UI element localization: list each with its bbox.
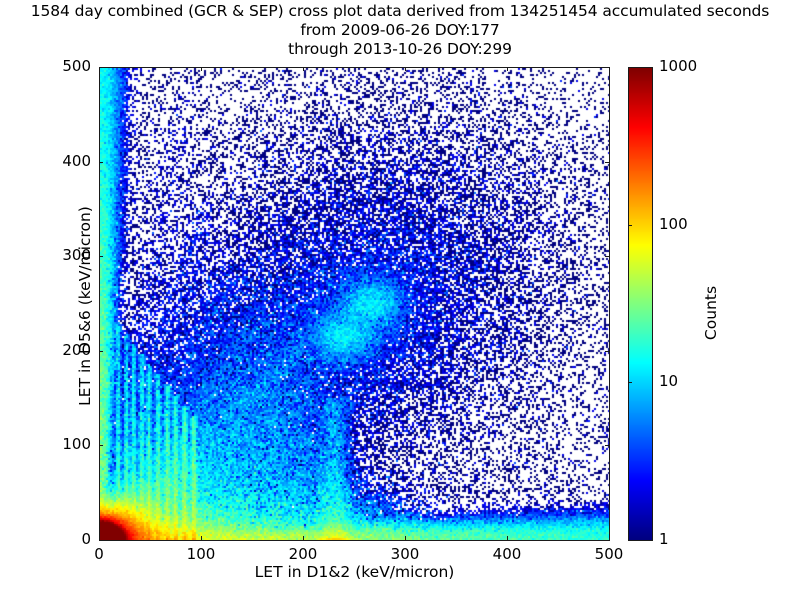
y-tick-mark [99,67,103,68]
y-tick-mark-right [605,540,609,541]
x-tick-mark [609,536,610,540]
x-tick-label: 100 [166,545,236,563]
y-tick-mark-right [605,256,609,257]
colorbar-label: Counts [702,223,720,403]
y-tick-mark [99,256,103,257]
colorbar-tick-label: 100 [659,215,688,233]
colorbar-tick-mark [628,382,632,383]
colorbar-tick-label: 1 [659,530,669,548]
plot-title: 1584 day combined (GCR & SEP) cross plot… [0,2,800,59]
colorbar[interactable] [628,67,653,541]
colorbar-tick-label: 10 [659,372,678,390]
x-tick-label: 500 [574,545,644,563]
y-tick-mark [99,351,103,352]
x-tick-mark [405,536,406,540]
x-tick-label: 200 [268,545,338,563]
y-tick-mark-right [605,162,609,163]
y-tick-mark-right [605,445,609,446]
x-tick-mark-top [609,67,610,71]
x-tick-mark [507,536,508,540]
y-tick-mark [99,162,103,163]
x-tick-mark-top [303,67,304,71]
x-tick-mark [303,536,304,540]
colorbar-gradient [629,68,652,540]
x-tick-mark [201,536,202,540]
y-tick-mark [99,540,103,541]
x-tick-label: 400 [472,545,542,563]
x-tick-mark-top [507,67,508,71]
colorbar-tick-label: 1000 [659,57,697,75]
x-tick-mark-top [201,67,202,71]
colorbar-tick-mark [628,225,632,226]
x-tick-label: 300 [370,545,440,563]
scatter-density-plot [100,68,609,540]
main-axes[interactable] [99,67,610,541]
y-tick-mark-right [605,351,609,352]
figure-canvas: 1584 day combined (GCR & SEP) cross plot… [0,0,800,600]
x-tick-mark-top [405,67,406,71]
plot-title-line-2: from 2009-06-26 DOY:177 [0,21,800,40]
plot-title-line-1: 1584 day combined (GCR & SEP) cross plot… [0,2,800,21]
x-axis-label: LET in D1&2 (keV/micron) [99,563,610,581]
y-tick-mark-right [605,67,609,68]
y-tick-mark [99,445,103,446]
y-axis-label: LET in D5&6 (keV/micron) [76,69,94,543]
